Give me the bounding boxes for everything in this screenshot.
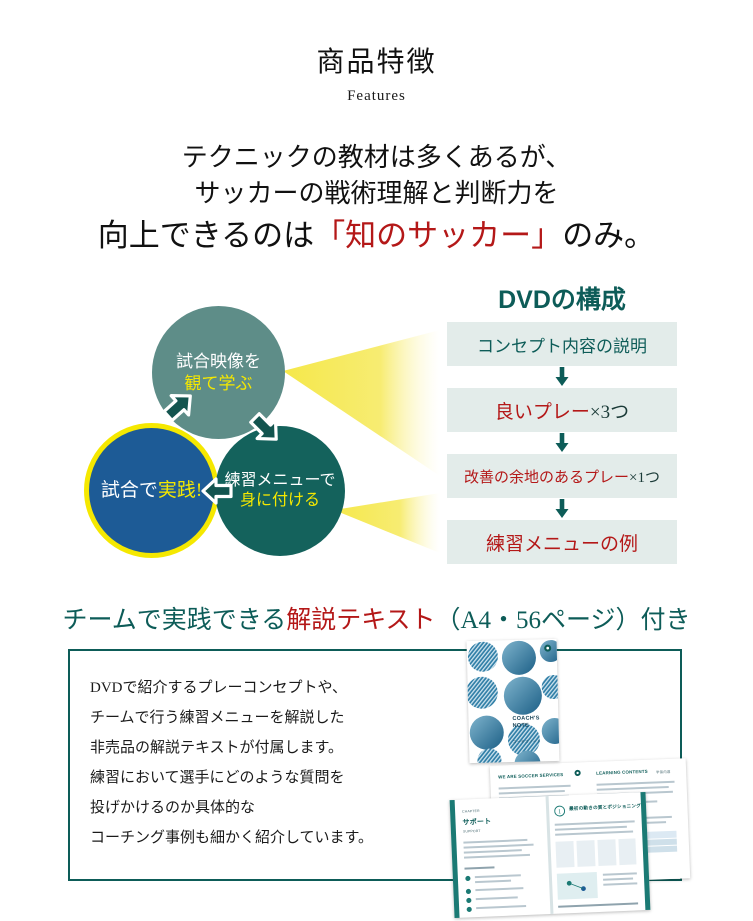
flow-step-2-label: 良いプレー bbox=[495, 397, 590, 424]
spread-left-heading: WE ARE SOCCER SERVICES bbox=[498, 772, 563, 779]
text-kit-line-4: 練習において選手にどのような質問を bbox=[90, 763, 450, 793]
text-kit-description: DVDで紹介するプレーコンセプトや、 チームで行う練習メニューを解説した 非売品… bbox=[90, 673, 450, 853]
cycle-node-menu: 練習メニューで 身に付ける bbox=[215, 426, 345, 556]
ball-icon bbox=[574, 769, 581, 776]
flow-connector-2 bbox=[447, 432, 677, 454]
booklet-artwork: WE ARE SOCCER SERVICES LEARNING CONTENTS… bbox=[440, 630, 753, 921]
text-kit-headline-highlight: 解説テキスト bbox=[286, 607, 435, 634]
svg-text:1: 1 bbox=[558, 808, 561, 815]
arrow-down-icon bbox=[556, 367, 569, 386]
lower-left-sub: SUPPORT bbox=[463, 829, 481, 834]
text-kit-line-3: 非売品の解説テキストが付属します。 bbox=[90, 733, 450, 763]
cycle-node-watch: 試合映像を 観て学ぶ bbox=[152, 306, 285, 439]
spread-right-heading: LEARNING CONTENTS bbox=[596, 769, 648, 776]
lede-line-1: テクニックの教材は多くあるが、 bbox=[0, 140, 753, 176]
text-kit-line-2: チームで行う練習メニューを解説した bbox=[90, 703, 450, 733]
cycle-node-practice-line1: 試合で bbox=[101, 480, 158, 501]
cycle-node-menu-line2: 身に付ける bbox=[240, 491, 320, 511]
flow-step-4: 練習メニューの例 bbox=[447, 520, 677, 564]
logo-icon bbox=[544, 644, 552, 652]
flow-step-4-label: 練習メニューの例 bbox=[486, 529, 638, 556]
beam-lower bbox=[334, 493, 440, 553]
lede-line-3-post: のみ。 bbox=[562, 218, 655, 253]
text-kit-line-6: コーチング事例も細かく紹介しています。 bbox=[90, 823, 450, 853]
text-kit-line-1: DVDで紹介するプレーコンセプトや、 bbox=[90, 673, 450, 703]
booklet-spread-lower: CHAPTER サポート SUPPORT 1 最初の動きの質とポジショニング bbox=[450, 792, 651, 918]
lower-left-heading: サポート bbox=[462, 816, 491, 827]
cycle-node-watch-line1: 試合映像を bbox=[176, 351, 261, 372]
arrow-down-icon bbox=[556, 499, 569, 518]
arrow-down-icon bbox=[556, 433, 569, 452]
lede-line-3-highlight: 「知のサッカー」 bbox=[314, 218, 562, 253]
dvd-structure-title: DVDの構成 bbox=[447, 280, 677, 316]
text-kit-line-5: 投げかけるのか具体的な bbox=[90, 793, 450, 823]
dvd-structure-flow: コンセプト内容の説明 良いプレー×3つ 改善の余地のあるプレー×1つ 練習メニュ… bbox=[447, 322, 677, 564]
lede-copy: テクニックの教材は多くあるが、 サッカーの戦術理解と判断力を 向上できるのは「知… bbox=[0, 140, 753, 257]
lede-line-2: サッカーの戦術理解と判断力を bbox=[0, 176, 753, 212]
page-title: 商品特徴 bbox=[0, 40, 753, 80]
cycle-node-watch-line2: 観て学ぶ bbox=[185, 373, 253, 394]
lede-line-3: 向上できるのは「知のサッカー」のみ。 bbox=[0, 214, 753, 257]
text-kit-headline-pre: チームで実践できる bbox=[62, 607, 286, 634]
flow-step-2: 良いプレー×3つ bbox=[447, 388, 677, 432]
flow-step-3-label: 改善の余地のあるプレー bbox=[464, 466, 629, 487]
cycle-node-practice-line2: 実践! bbox=[158, 480, 202, 501]
lede-line-3-pre: 向上できるのは bbox=[98, 218, 314, 253]
number-badge-icon: 1 bbox=[554, 805, 565, 816]
lower-right-heading: 最初の動きの質とポジショニング bbox=[569, 803, 641, 812]
flow-step-3-count: ×1つ bbox=[629, 466, 660, 487]
cycle-node-practice: 試合で実践! bbox=[84, 423, 219, 558]
cover-subtitle: コーチズノート bbox=[513, 739, 541, 745]
cycle-node-practice-text: 試合で実践! bbox=[101, 479, 202, 503]
spread-right-sub: 学習内容 bbox=[656, 769, 671, 775]
flow-step-1-label: コンセプト内容の説明 bbox=[477, 332, 647, 357]
cycle-node-menu-line1: 練習メニューで bbox=[224, 471, 335, 491]
flow-step-1: コンセプト内容の説明 bbox=[447, 322, 677, 366]
booklet-cover: COACH'S NOTE コーチズノート bbox=[467, 639, 560, 763]
flow-step-3: 改善の余地のあるプレー×1つ bbox=[447, 454, 677, 498]
flow-connector-1 bbox=[447, 366, 677, 388]
cover-title: COACH'S NOTE bbox=[512, 715, 540, 731]
product-features-page: 商品特徴 Features テクニックの教材は多くあるが、 サッカーの戦術理解と… bbox=[0, 0, 753, 921]
flow-step-2-count: ×3つ bbox=[590, 397, 629, 424]
flow-connector-3 bbox=[447, 498, 677, 520]
page-subtitle: Features bbox=[0, 88, 753, 105]
